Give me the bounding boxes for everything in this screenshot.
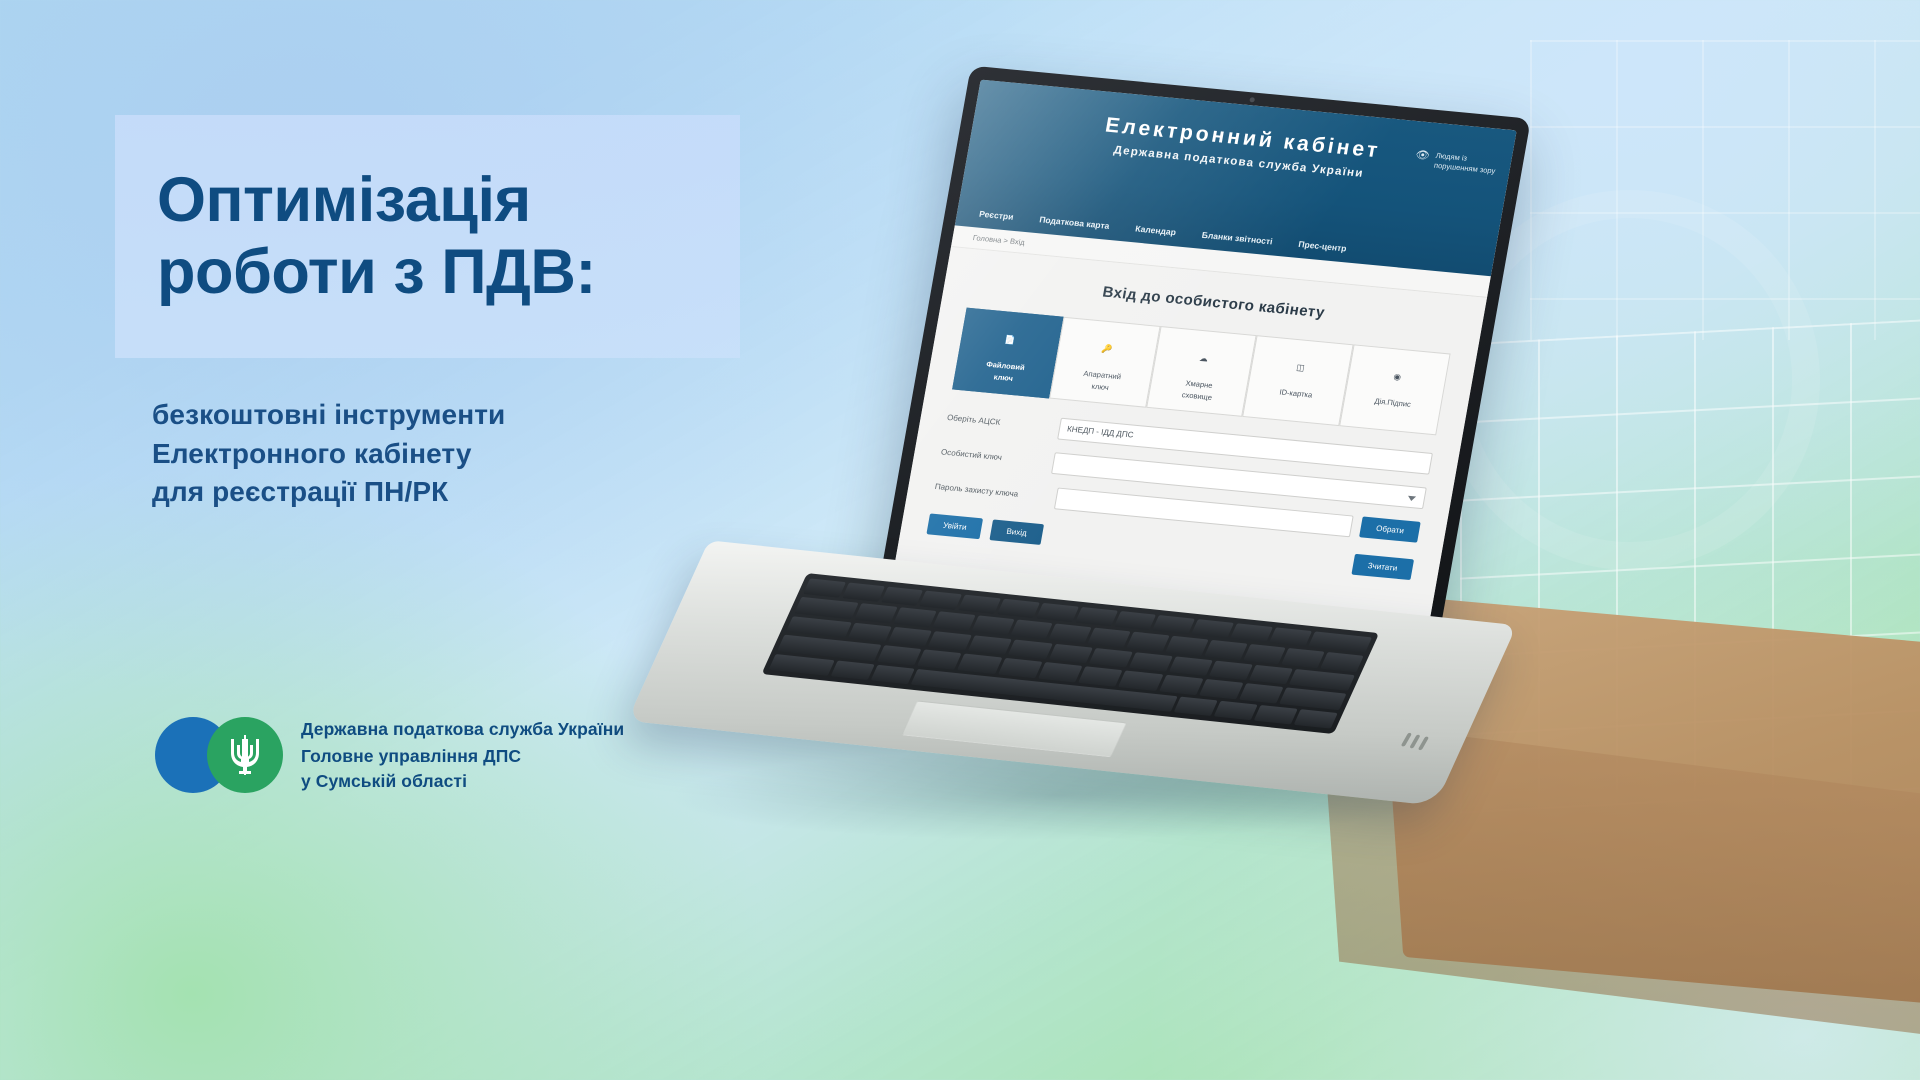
logo-green-circle: [207, 717, 283, 793]
form-row-private-key: Особистий ключ: [939, 441, 1427, 509]
organization-logo-block: Державна податкова служба України Головн…: [155, 716, 624, 794]
cloud-icon: ☁: [1159, 348, 1248, 369]
nav-item-report-forms[interactable]: Бланки звітності: [1201, 230, 1273, 247]
page-title: Оптимізація роботи з ПДВ:: [115, 165, 596, 309]
laptop-shadow: [648, 750, 1472, 840]
nav-item-registries[interactable]: Реєстри: [978, 209, 1014, 222]
auth-tab-id-card[interactable]: ◫ ID-картка: [1243, 335, 1354, 426]
keyboard-row: [786, 616, 1355, 691]
auth-tab-label: Файловий ключ: [986, 360, 1026, 383]
background-grid-decoration: [1460, 316, 1920, 813]
keyboard-row: [769, 654, 1338, 729]
form-action-buttons-left: Увійти Вихід: [926, 513, 1043, 544]
eye-icon: 👁: [1415, 150, 1431, 162]
desk-surface: [1378, 594, 1920, 1007]
site-header: Електронний кабінет Державна податкова с…: [955, 80, 1517, 277]
label-private-key: Особистий ключ: [940, 448, 1054, 468]
browse-button[interactable]: Обрати: [1359, 517, 1420, 543]
input-password[interactable]: [1054, 487, 1354, 537]
auth-method-tabs: 📄 Файловий ключ 🔑 Апаратний ключ ☁ Хмарн…: [952, 308, 1450, 435]
screen-glare: [890, 80, 1517, 644]
submit-button[interactable]: Зчитати: [1351, 554, 1414, 580]
diia-icon: ◉: [1353, 367, 1442, 388]
site-nav: Реєстри Податкова карта Календар Бланки …: [955, 207, 1494, 277]
login-page-body: Вхід до особистого кабінету 📄 Файловий к…: [890, 247, 1487, 644]
auth-tab-diia-signature[interactable]: ◉ Дія.Підпис: [1339, 344, 1450, 435]
form-row-acsk: Оберіть АЦСК КНЕДП - ІДД ДПС: [945, 407, 1433, 475]
auth-tab-hardware-key[interactable]: 🔑 Апаратний ключ: [1049, 317, 1160, 408]
background-grid-decoration-secondary: [1530, 40, 1920, 340]
keyboard-row: [777, 635, 1346, 710]
auth-tab-label: ID-картка: [1279, 388, 1313, 400]
laptop-illustration: Електронний кабінет Державна податкова с…: [630, 60, 1920, 960]
file-icon: 📄: [966, 330, 1055, 351]
login-page-title: Вхід до особистого кабінету: [970, 271, 1457, 334]
breadcrumb: Головна > Вхід: [951, 225, 1491, 298]
label-acsk: Оберіть АЦСК: [946, 413, 1060, 433]
select-private-key[interactable]: [1051, 452, 1427, 509]
nav-item-press-center[interactable]: Прес-центр: [1298, 239, 1348, 253]
title-panel: Оптимізація роботи з ПДВ:: [115, 115, 740, 358]
login-button[interactable]: Увійти: [926, 513, 983, 539]
keyboard-row: [803, 578, 1372, 653]
accessibility-label: Людям із порушенням зору: [1433, 151, 1498, 177]
site-brand-title: Електронний кабінет: [989, 103, 1497, 175]
label-password: Пароль захисту ключа: [934, 482, 1048, 502]
form-row-password: Пароль захисту ключа Обрати: [933, 476, 1421, 544]
keyboard-row: [794, 597, 1363, 672]
nav-item-tax-map[interactable]: Податкова карта: [1039, 214, 1111, 230]
logo-marks: [155, 717, 283, 793]
id-card-icon: ◫: [1256, 358, 1345, 379]
desk-edge: [1322, 719, 1920, 1041]
laptop-lid: Електронний кабінет Державна податкова с…: [873, 66, 1531, 671]
organization-department: Головне управління ДПС у Сумській област…: [301, 744, 624, 794]
cancel-button[interactable]: Вихід: [990, 519, 1044, 544]
auth-tab-label: Апаратний ключ: [1083, 369, 1122, 392]
auth-tab-file-key[interactable]: 📄 Файловий ключ: [952, 308, 1063, 399]
nav-item-calendar[interactable]: Календар: [1135, 224, 1177, 238]
input-acsk[interactable]: КНЕДП - ІДД ДПС: [1057, 417, 1433, 474]
organization-name: Державна податкова служба України: [301, 716, 624, 742]
laptop-base: [627, 540, 1517, 805]
page-subtitle: безкоштовні інструменти Електронного каб…: [152, 396, 505, 512]
ports: [1401, 733, 1429, 751]
auth-tab-cloud-storage[interactable]: ☁ Хмарне сховище: [1146, 326, 1257, 417]
auth-tab-label: Хмарне сховище: [1181, 379, 1213, 402]
site-brand-subtitle: Державна податкова служба України: [986, 132, 1492, 192]
trackpad: [901, 700, 1127, 757]
background-circle-watermark: [1440, 190, 1820, 570]
keyboard: [761, 573, 1379, 734]
organization-texts: Державна податкова служба України Головн…: [301, 716, 624, 794]
site-brand: Електронний кабінет Державна податкова с…: [986, 103, 1497, 192]
webcam-icon: [1249, 97, 1255, 102]
laptop-screen: Електронний кабінет Державна податкова с…: [890, 80, 1517, 644]
key-icon: 🔑: [1062, 339, 1151, 360]
auth-tab-label: Дія.Підпис: [1374, 397, 1412, 409]
form-action-buttons: Увійти Вихід Зчитати: [926, 513, 1414, 580]
trident-icon: [228, 733, 262, 777]
accessibility-link[interactable]: 👁 Людям із порушенням зору: [1413, 149, 1498, 177]
